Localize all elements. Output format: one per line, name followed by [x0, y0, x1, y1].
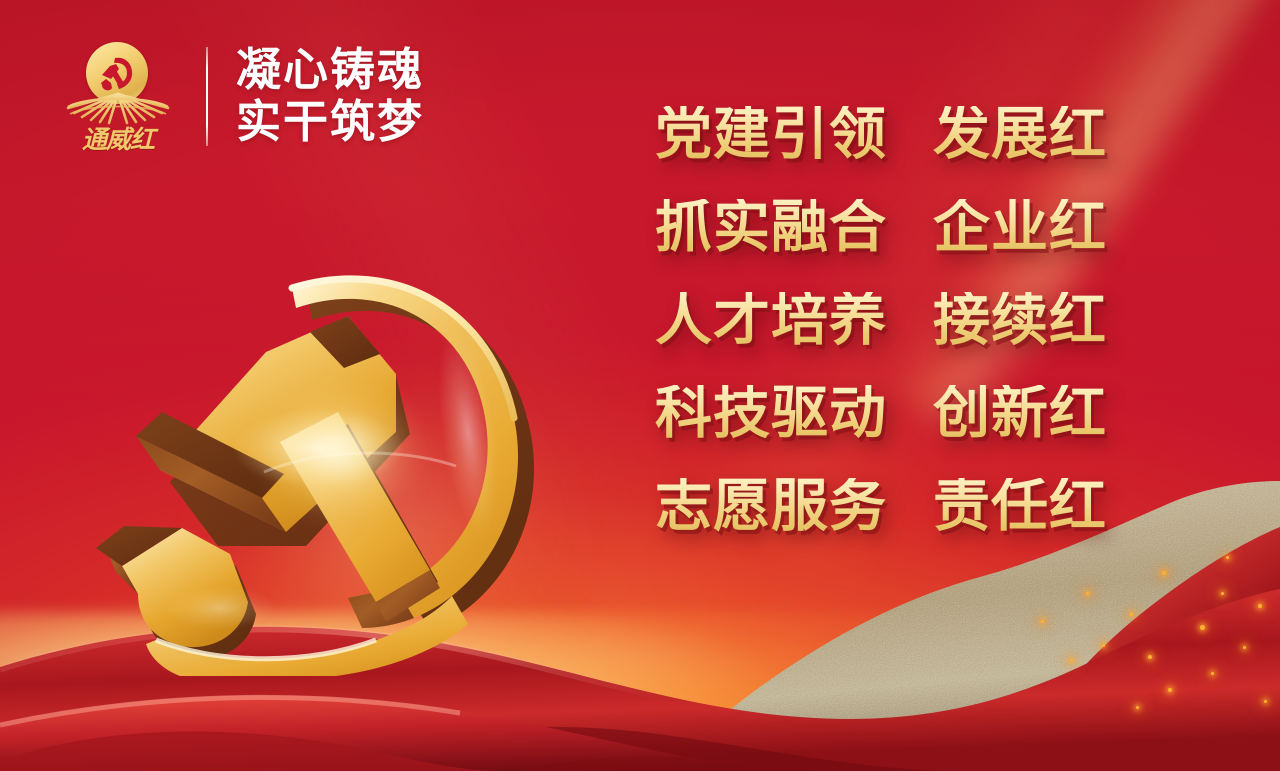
logo-divider [206, 47, 208, 146]
slogan-row: 科技驱动 创新红 [655, 385, 1107, 443]
slogan-list: 党建引领 发展红 抓实融合 企业红 人才培养 接续红 科技驱动 创新红 志愿服务… [655, 106, 1107, 536]
company-slogan-line-1: 凝心铸魂 [236, 44, 424, 96]
slogan-left-phrase: 党建引领 [655, 106, 887, 164]
party-emblem-sculpture [96, 236, 576, 676]
company-slogan: 凝心铸魂 实干筑梦 [236, 44, 424, 148]
slogan-row: 志愿服务 责任红 [655, 478, 1107, 536]
slogan-left-phrase: 人才培养 [655, 292, 887, 350]
slogan-left-phrase: 科技驱动 [655, 385, 887, 443]
company-slogan-line-2: 实干筑梦 [236, 96, 424, 148]
slogan-left-phrase: 抓实融合 [655, 199, 887, 257]
slogan-right-phrase: 接续红 [933, 292, 1107, 350]
slogan-row: 抓实融合 企业红 [655, 199, 1107, 257]
slogan-right-phrase: 责任红 [933, 478, 1107, 536]
poster-canvas: 通威红 凝心铸魂 实干筑梦 党建引领 发展红 抓实融合 企业红 人才培养 接续红… [0, 0, 1280, 771]
slogan-left-phrase: 志愿服务 [655, 478, 887, 536]
slogan-right-phrase: 创新红 [933, 385, 1107, 443]
tongwei-red-logo[interactable]: 通威红 [64, 40, 172, 152]
slogan-row: 人才培养 接续红 [655, 292, 1107, 350]
slogan-row: 党建引领 发展红 [655, 106, 1107, 164]
logo-wordmark: 通威红 [64, 120, 172, 156]
logo-lockup[interactable]: 通威红 凝心铸魂 实干筑梦 [64, 40, 424, 152]
hammer-and-sickle-icon [97, 53, 137, 93]
slogan-right-phrase: 发展红 [933, 106, 1107, 164]
slogan-right-phrase: 企业红 [933, 199, 1107, 257]
